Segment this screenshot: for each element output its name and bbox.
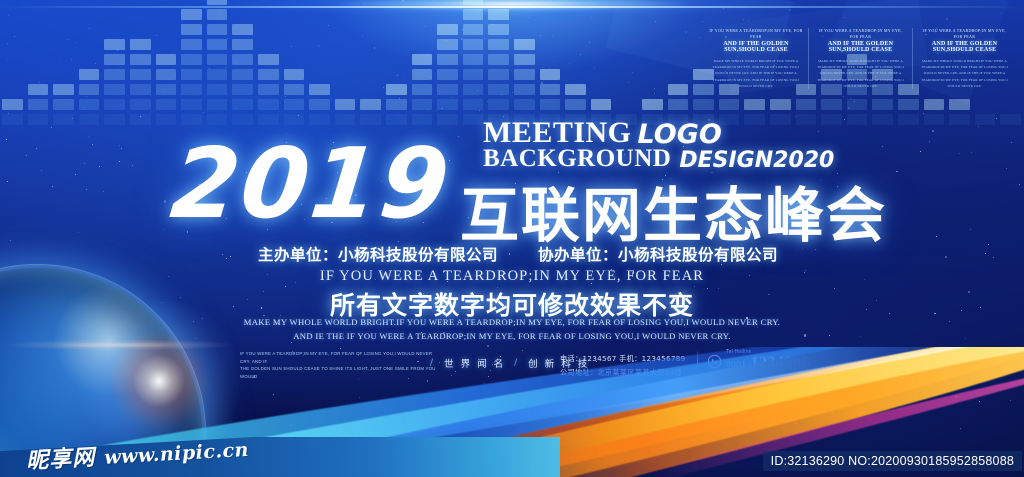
keyword-separator: / (430, 358, 435, 368)
contact-address-line: 公司地址：北京某某区某某大厦18楼 (560, 366, 685, 380)
body-paragraph-line2: AND IE THE IF YOU WERE A TEARDROP;IN MY … (0, 330, 1024, 344)
corner-card-line1: IF YOU WERE A TEARDROP;IN MY EYE, FOR FE… (709, 28, 803, 40)
contact-divider (697, 350, 698, 374)
teardrop-tagline: IF YOU WERE A TEARDROP;IN MY EYE, FOR FE… (0, 268, 1024, 285)
corner-card-line2: AND IF THE GOLDEN SUN,SHOULD CEASE (814, 41, 907, 53)
hotline-number: 1234888 (751, 354, 811, 372)
corner-card-body: MAKE MY WHOLE WORLD BRIGHT.IF YOU WERE A… (918, 58, 1011, 88)
body-paragraph-line1: MAKE MY WHOLE WORLD BRIGHT.IF YOU WERE A… (0, 316, 1024, 330)
corner-card-line1: IF YOU WERE A TEARDROP;IN MY EYE, FOR FE… (814, 28, 907, 40)
fine-print-block: IF YOU WERE A TEARDROP;IN MY EYE, FOR FE… (240, 350, 440, 381)
contact-phone-line: 电话：1234567 手机：123456789 (560, 352, 685, 366)
year-headline: 2019 (167, 140, 454, 227)
corner-text-cards: IF YOU WERE A TEARDROP;IN MY EYE, FOR FE… (704, 28, 1016, 89)
keyword-separator: / (514, 358, 519, 368)
corner-card: IF YOU WERE A TEARDROP;IN MY EYE, FOR FE… (912, 28, 1016, 89)
contact-block: 电话：1234567 手机：123456789 公司地址：北京某某区某某大厦18… (560, 352, 685, 380)
organizer-row: 主办单位：小杨科技股份有限公司 协办单位：小杨科技股份有限公司 (258, 243, 778, 265)
keyword-item: 世 界 闻 名 (444, 356, 505, 370)
chinese-main-title: 互联网生态峰会 (460, 168, 887, 253)
host-organizer: 主办单位：小杨科技股份有限公司 (258, 243, 498, 265)
fine-print-line1: IF YOU WERE A TEARDROP;IN MY EYE, FOR FE… (240, 350, 440, 365)
body-paragraph: MAKE MY WHOLE WORLD BRIGHT.IF YOU WERE A… (0, 316, 1024, 344)
id-badge: ID:32136290 NO:20200930185952858088 (763, 451, 1022, 471)
hotline-block: Tel Hotline 0001 1234888 (707, 350, 810, 372)
corner-card-body: MAKE MY WHOLE WORLD BRIGHT.IF YOU WERE A… (814, 58, 907, 88)
watermark-bar: 昵享网 www.nipic.cn (0, 437, 560, 477)
fine-print-line2: THE GOLDEN SUN SHOULD CEASE TO SHINE ITS… (240, 365, 440, 380)
phone-icon (707, 354, 722, 369)
corner-card-line2: AND IF THE GOLDEN SUN,SHOULD CEASE (709, 41, 803, 53)
watermark-brand: 昵享网 (25, 439, 96, 475)
corner-card: IF YOU WERE A TEARDROP;IN MY EYE, FOR FE… (808, 28, 912, 89)
poster-canvas: IF YOU WERE A TEARDROP;IN MY EYE, FOR FE… (0, 0, 1024, 477)
corner-card-line1: IF YOU WERE A TEARDROP;IN MY EYE, FOR FE… (918, 28, 1011, 40)
corner-card: IF YOU WERE A TEARDROP;IN MY EYE, FOR FE… (704, 28, 808, 89)
hotline-prefix: 0001 (726, 359, 747, 369)
corner-card-body: MAKE MY WHOLE WORLD BRIGHT.IF YOU WERE A… (709, 58, 803, 88)
cohost-organizer: 协办单位：小杨科技股份有限公司 (538, 243, 778, 265)
corner-card-line2: AND IF THE GOLDEN SUN,SHOULD CEASE (918, 41, 1011, 53)
